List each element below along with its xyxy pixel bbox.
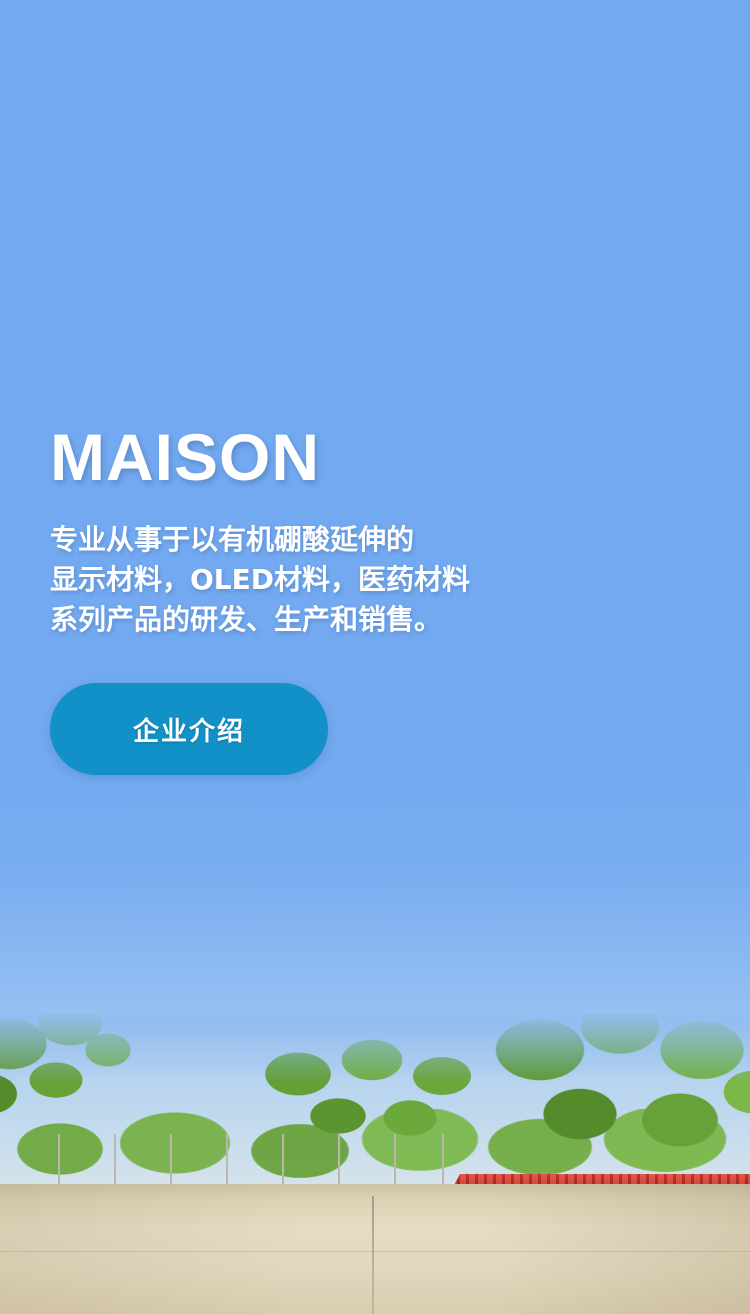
tree-canopy-left: [0, 1014, 150, 1152]
tagline-line-1: 专业从事于以有机硼酸延伸的: [50, 520, 690, 560]
tagline-line-3: 系列产品的研发、生产和销售。: [50, 600, 690, 640]
factory-gate-photo: 河北美星公司 MAISON CHEMICAL: [0, 1014, 750, 1314]
tree-canopy-middle: [252, 1034, 482, 1154]
brand-title: MAISON: [50, 424, 690, 490]
pavement: [0, 1184, 750, 1314]
pavement-seam-center: [372, 1196, 374, 1314]
pavement-seam-horizontal: [0, 1251, 750, 1252]
hero-copy: MAISON 专业从事于以有机硼酸延伸的 显示材料，OLED材料，医药材料 系列…: [50, 424, 690, 775]
tree-canopy-right: [470, 1014, 750, 1196]
hero-banner: 河北美星公司 MAISON CHEMICAL MAISON 专业从事于以有机硼酸…: [0, 0, 750, 1314]
hero-tagline: 专业从事于以有机硼酸延伸的 显示材料，OLED材料，医药材料 系列产品的研发、生…: [50, 520, 690, 639]
tagline-line-2: 显示材料，OLED材料，医药材料: [50, 560, 690, 600]
company-intro-button[interactable]: 企业介绍: [50, 683, 328, 775]
